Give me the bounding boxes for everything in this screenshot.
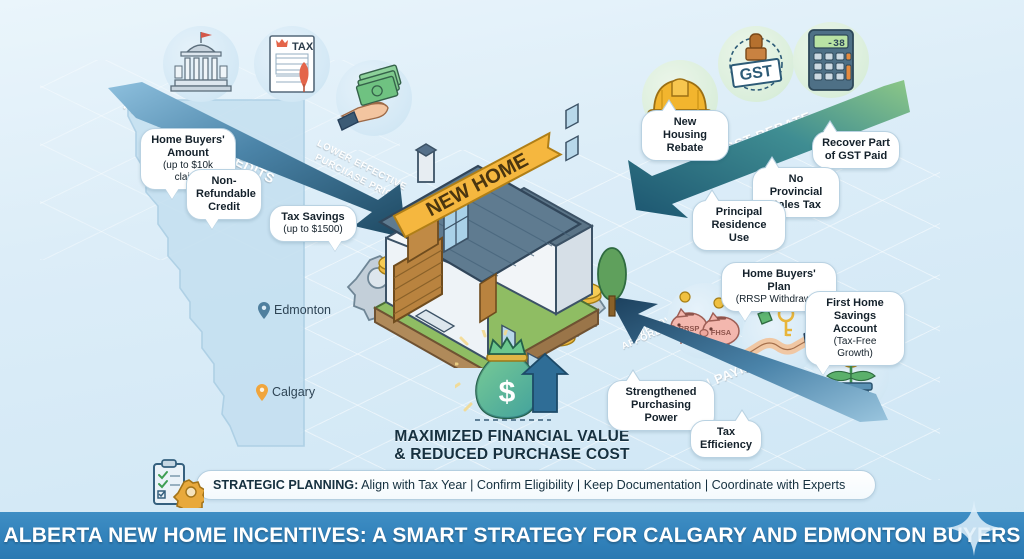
- callout-non-refundable-credit[interactable]: Non- Refundable Credit: [186, 169, 262, 220]
- callout-first-home-savings-account[interactable]: First Home Savings Account (Tax-Free Gro…: [805, 291, 905, 366]
- map-pin-icon: [258, 302, 270, 319]
- money-bag-growth-icon: $: [455, 330, 595, 440]
- callout-line2: of GST Paid: [825, 150, 887, 162]
- svg-text:-38: -38: [827, 39, 845, 50]
- callout-tail: [662, 101, 676, 112]
- callout-sub: (Tax-Free Growth): [815, 336, 895, 360]
- callout-line1: Home Buyers': [151, 134, 225, 146]
- callout-line2: Amount: [167, 147, 209, 159]
- callout-tax-efficiency[interactable]: Tax Efficiency: [690, 420, 762, 458]
- callout-tail: [328, 240, 342, 251]
- callout-line2: Efficiency: [700, 439, 752, 451]
- callout-line2: Savings Account: [833, 310, 877, 335]
- callout-tail: [823, 122, 837, 133]
- callout-line1: Non-: [211, 175, 236, 187]
- callout-recover-part-of-gst-paid[interactable]: Recover Part of GST Paid: [812, 131, 900, 169]
- callout-line2: Purchasing Power: [631, 399, 691, 424]
- clipboard-gear-icon: [148, 458, 204, 508]
- callout-tail: [626, 371, 640, 382]
- map-pin-icon: [256, 384, 268, 401]
- center-headline-line1: MAXIMIZED FINANCIAL VALUE: [0, 428, 1024, 447]
- callout-line1: Strengthened: [626, 386, 697, 398]
- svg-text:TAX: TAX: [292, 41, 314, 53]
- callout-tail: [816, 364, 830, 375]
- callout-tail: [738, 310, 752, 321]
- callout-tail: [205, 218, 219, 229]
- callout-tail: [165, 188, 179, 199]
- callout-line1: Tax: [717, 426, 735, 438]
- callout-line2: Rebate: [667, 142, 704, 154]
- callout-new-housing-rebate[interactable]: New Housing Rebate: [641, 110, 729, 161]
- callout-line1: Tax Savings: [281, 211, 344, 223]
- callout-line1: New Housing: [663, 116, 707, 141]
- infographic-canvas: Edmonton Calgary FEDERAL TAX CREDITS LOW…: [0, 0, 1024, 559]
- strategic-planning-label: STRATEGIC PLANNING:: [213, 478, 358, 492]
- strategic-planning-text: STRATEGIC PLANNING: Align with Tax Year …: [213, 478, 845, 492]
- callout-line3: Credit: [208, 201, 240, 213]
- callout-principal-residence-use[interactable]: Principal Residence Use: [692, 200, 786, 251]
- sparkle-decoration-icon: [946, 500, 1002, 556]
- callout-line2: Residence Use: [711, 219, 766, 244]
- callout-sub: (up to $1500): [279, 224, 347, 236]
- callout-line2: Refundable: [196, 188, 256, 200]
- city-label-calgary: Calgary: [272, 385, 315, 399]
- city-label-edmonton: Edmonton: [274, 303, 331, 317]
- callout-line1: No Provincial: [770, 173, 823, 198]
- callout-tail: [735, 411, 749, 422]
- svg-text:$: $: [499, 376, 516, 409]
- strategic-planning-bar[interactable]: STRATEGIC PLANNING: Align with Tax Year …: [196, 470, 876, 500]
- callout-line1: First Home: [826, 297, 883, 309]
- callout-tail: [705, 191, 719, 202]
- new-home-illustration: NEW HOME: [330, 88, 640, 368]
- bottom-title-banner: ALBERTA NEW HOME INCENTIVES: A SMART STR…: [0, 512, 1024, 559]
- callout-tail: [765, 158, 779, 169]
- bottom-banner-title: ALBERTA NEW HOME INCENTIVES: A SMART STR…: [4, 524, 1021, 548]
- callout-line1: Home Buyers' Plan: [742, 268, 816, 293]
- callout-line1: Recover Part: [822, 137, 890, 149]
- callout-line1: Principal: [716, 206, 762, 218]
- callout-tax-savings[interactable]: Tax Savings (up to $1500): [269, 205, 357, 242]
- strategic-planning-items: Align with Tax Year | Confirm Eligibilit…: [358, 478, 845, 492]
